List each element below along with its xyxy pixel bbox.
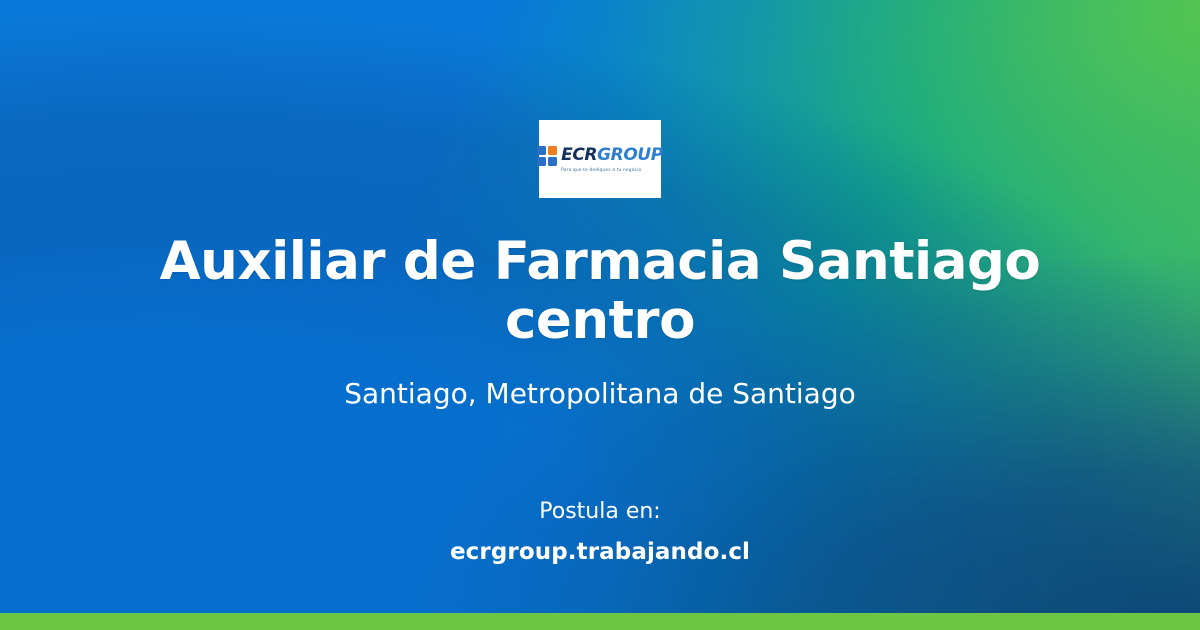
logo-row: ECRGROUP: [537, 146, 663, 166]
job-share-card: ECRGROUP Para que te dediques a tu negoc…: [0, 0, 1200, 630]
company-logo: ECRGROUP Para que te dediques a tu negoc…: [537, 146, 663, 173]
logo-square-bottom-left-icon: [537, 157, 546, 166]
logo-square-top-right-icon: [548, 146, 557, 155]
logo-squares-grid-icon: [537, 146, 557, 166]
logo-tagline: Para que te dediques a tu negocio: [561, 168, 641, 173]
logo-square-top-left-icon: [537, 146, 546, 155]
card-content: ECRGROUP Para que te dediques a tu negoc…: [0, 0, 1200, 630]
job-location: Santiago, Metropolitana de Santiago: [100, 377, 1100, 411]
logo-word-secondary: GROUP: [597, 145, 663, 165]
logo-square-bottom-right-icon: [548, 157, 557, 166]
job-title: Auxiliar de Farmacia Santiago centro: [150, 232, 1050, 351]
logo-word-primary: ECR: [561, 145, 597, 165]
logo-wordmark: ECRGROUP: [561, 147, 663, 164]
company-logo-card: ECRGROUP Para que te dediques a tu negoc…: [539, 120, 661, 198]
bottom-accent-bar: [0, 613, 1200, 630]
